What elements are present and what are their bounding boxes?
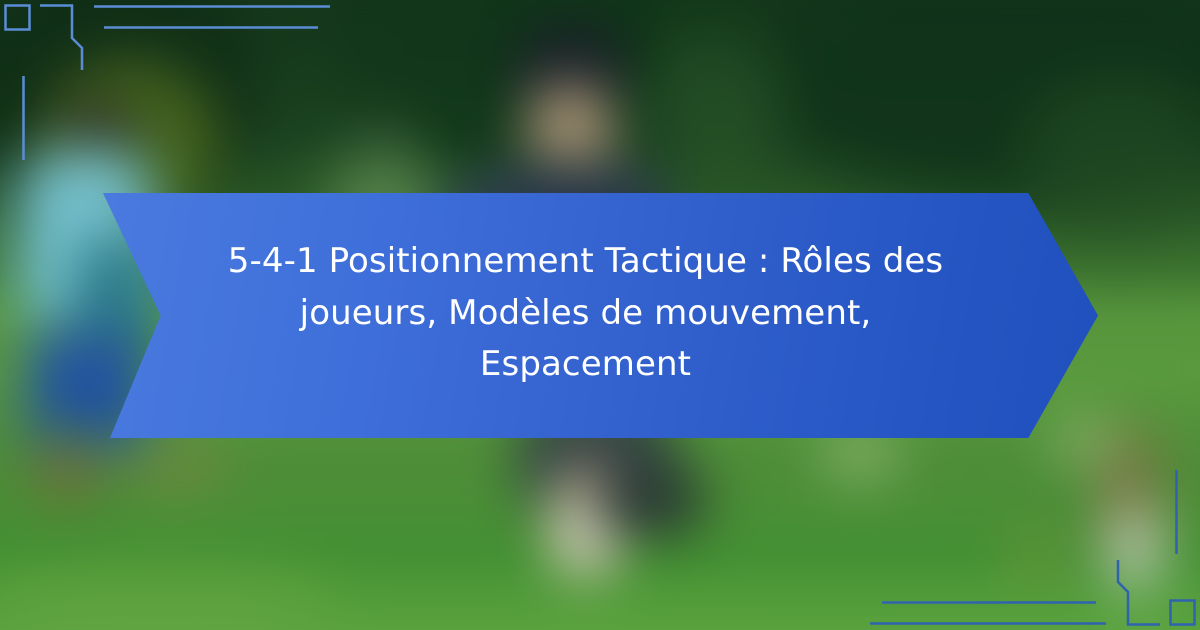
background-player-left-shoe [36,452,96,492]
title-banner: 5-4-1 Positionnement Tactique : Rôles de… [103,193,1098,438]
page-title: 5-4-1 Positionnement Tactique : Rôles de… [193,193,978,438]
background-grass-highlight-3 [120,442,230,494]
background-player-center-shoe [596,468,706,534]
background-player-center-cap-crown [530,36,614,82]
background-grass-highlight-4 [1010,538,1064,572]
background-blur-foliage-highlight-center [640,30,780,180]
background-player-right-sock [1106,510,1162,590]
